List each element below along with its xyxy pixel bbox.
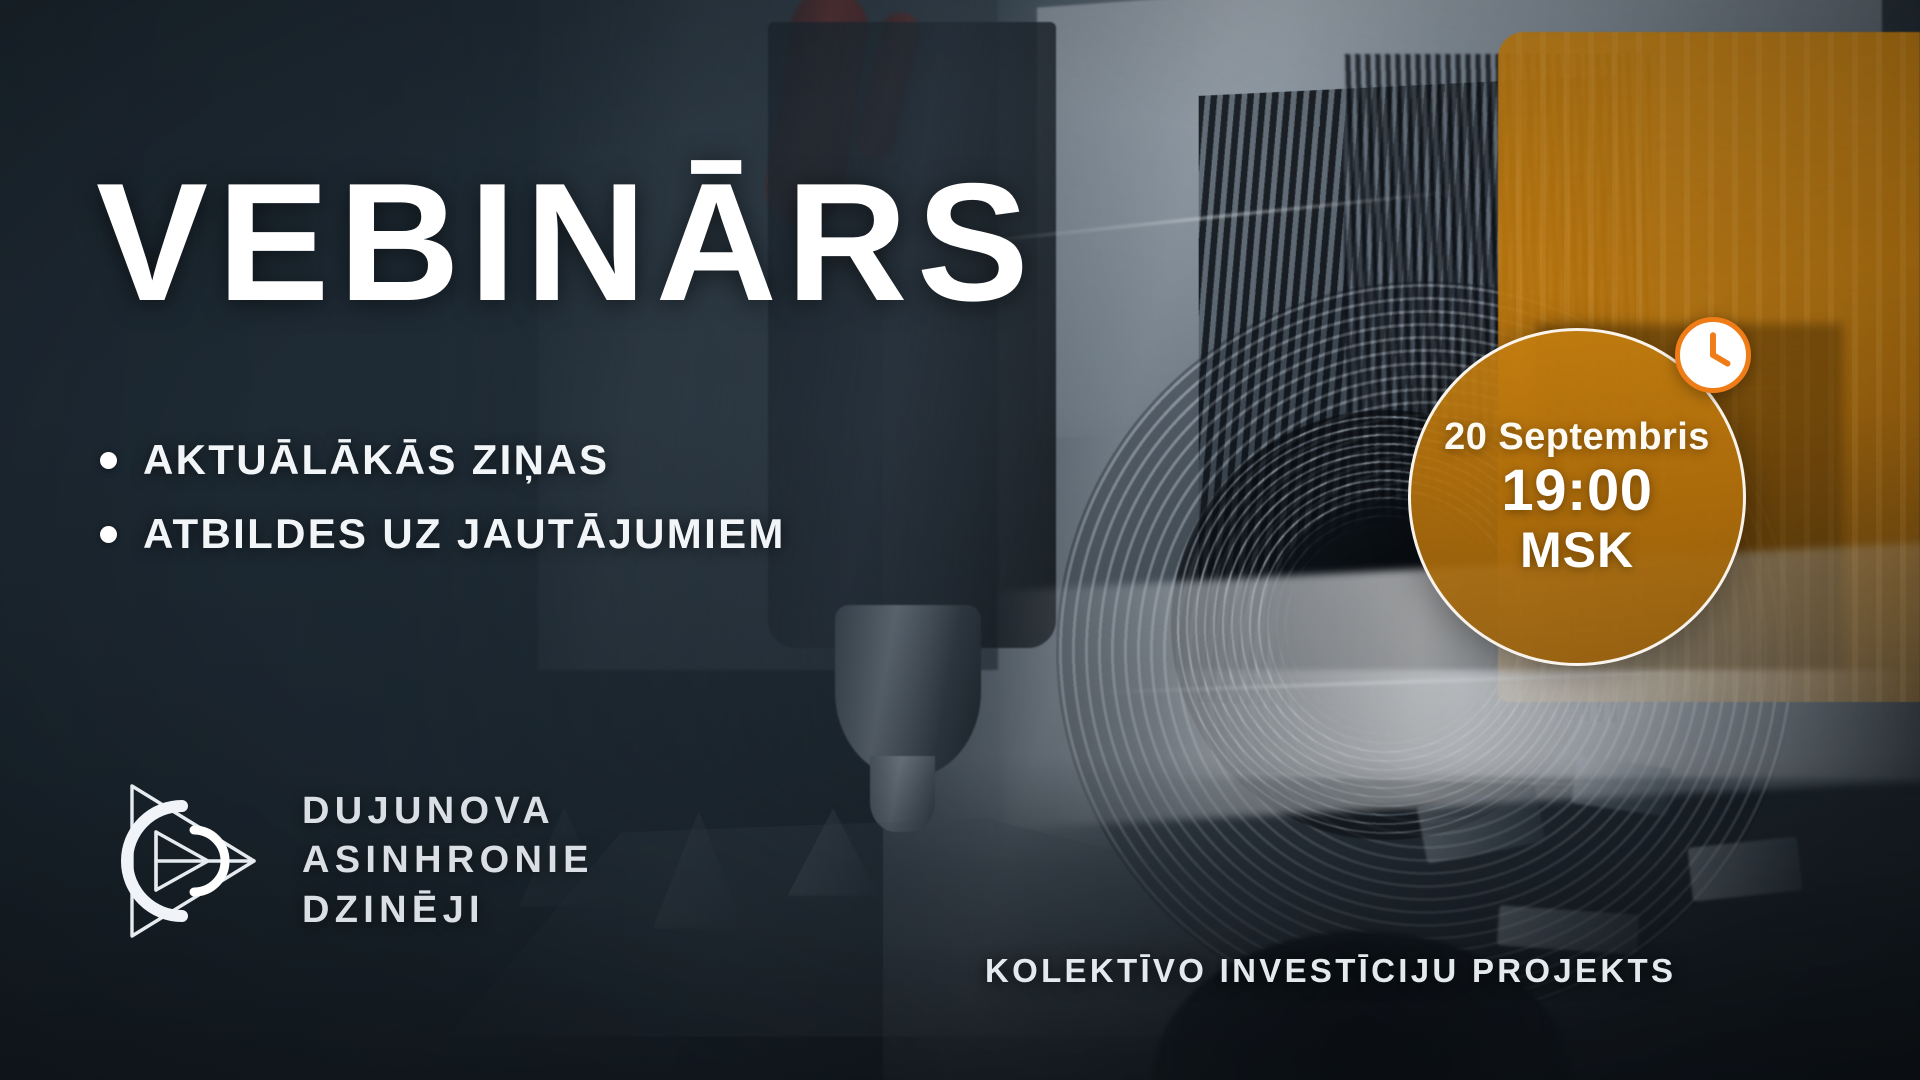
list-item: ATBILDES UZ JAUTĀJUMIEM — [100, 510, 786, 558]
brand-name-line-1: DUJUNOVA — [302, 787, 594, 836]
project-tagline: KOLEKTĪVO INVESTĪCIJU PROJEKTS — [985, 952, 1676, 990]
bullet-dot-icon — [100, 452, 117, 469]
dujunova-logo-mark-icon — [104, 770, 264, 952]
headline-title: VEBINĀRS — [96, 158, 1038, 326]
brand-name-line-2: ASINHRONIE — [302, 836, 594, 885]
webinar-promo-banner: VEBINĀRS AKTUĀLĀKĀS ZIŅAS ATBILDES UZ JA… — [0, 0, 1920, 1080]
bullet-label: ATBILDES UZ JAUTĀJUMIEM — [143, 510, 786, 558]
bullet-dot-icon — [100, 526, 117, 543]
badge-timezone-label: MSK — [1520, 524, 1634, 577]
list-item: AKTUĀLĀKĀS ZIŅAS — [100, 436, 786, 484]
clock-icon — [1675, 317, 1751, 393]
brand-lockup: DUJUNOVA ASINHRONIE DZINĒJI — [104, 770, 594, 952]
brand-name-line-3: DZINĒJI — [302, 886, 594, 935]
banner-content: VEBINĀRS AKTUĀLĀKĀS ZIŅAS ATBILDES UZ JA… — [0, 0, 1920, 1080]
bullet-label: AKTUĀLĀKĀS ZIŅAS — [143, 436, 609, 484]
badge-time-label: 19:00 — [1501, 459, 1652, 524]
event-datetime-badge: 20 Septembris 19:00 MSK — [1408, 328, 1746, 666]
brand-name-text: DUJUNOVA ASINHRONIE DZINĒJI — [302, 787, 594, 935]
badge-date-label: 20 Septembris — [1444, 417, 1710, 459]
feature-bullet-list: AKTUĀLĀKĀS ZIŅAS ATBILDES UZ JAUTĀJUMIEM — [100, 436, 786, 584]
